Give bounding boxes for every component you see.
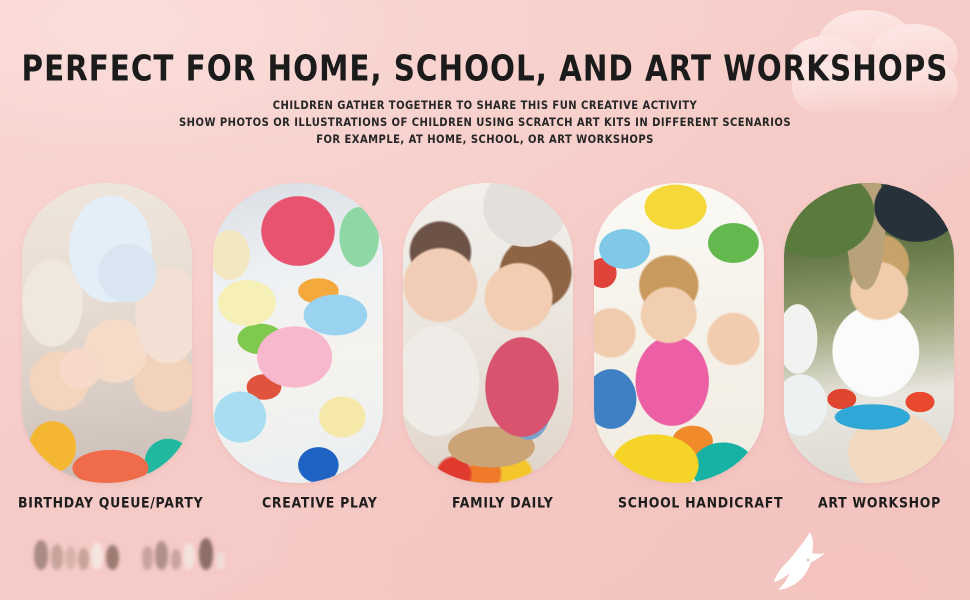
subtitle-line-3: FOR EXAMPLE, AT HOME, SCHOOL, OR ART WOR… [0, 135, 970, 146]
caption-family-daily: FAMILY DAILY [452, 496, 553, 510]
crayon-oval [106, 545, 119, 570]
crayon-oval [142, 546, 153, 570]
scenario-card-family-daily[interactable] [403, 183, 573, 483]
subtitle-block: CHILDREN GATHER TOGETHER TO SHARE THIS F… [0, 102, 970, 146]
photo-school-handicraft [594, 183, 764, 483]
caption-creative-play: CREATIVE PLAY [262, 496, 378, 510]
subtitle-line-1: CHILDREN GATHER TOGETHER TO SHARE THIS F… [0, 101, 970, 112]
banner-header: PERFECT FOR HOME, SCHOOL, AND ART WORKSH… [0, 52, 970, 153]
crayon-oval [78, 548, 89, 570]
page-title: PERFECT FOR HOME, SCHOOL, AND ART WORKSH… [10, 52, 961, 87]
scenario-card-row [22, 183, 954, 483]
scenario-card-creative-play[interactable] [213, 183, 383, 483]
caption-art-workshop: ART WORKSHOP [818, 496, 941, 510]
scenario-card-school-handicraft[interactable] [594, 183, 764, 483]
dove-icon [770, 530, 830, 596]
subtitle-line-2: SHOW PHOTOS OR ILLUSTRATIONS OF CHILDREN… [0, 118, 970, 129]
crayon-oval [216, 552, 225, 570]
crayon-oval [91, 542, 103, 570]
caption-birthday-party: BIRTHDAY QUEUE/PARTY [18, 496, 203, 510]
photo-creative-play [213, 183, 383, 483]
caption-school-handicraft: SCHOOL HANDICRAFT [618, 496, 783, 510]
photo-family-daily [403, 183, 573, 483]
crayon-ovals-decoration [34, 530, 254, 570]
photo-birthday-party [22, 183, 192, 483]
promo-banner: PERFECT FOR HOME, SCHOOL, AND ART WORKSH… [0, 0, 970, 600]
crayon-oval [171, 549, 181, 570]
scenario-card-art-workshop[interactable] [784, 183, 954, 483]
crayon-oval [155, 541, 168, 570]
photo-art-workshop [784, 183, 954, 483]
crayon-oval [183, 543, 195, 570]
crayon-oval [65, 546, 76, 570]
caption-row: BIRTHDAY QUEUE/PARTY CREATIVE PLAY FAMIL… [0, 497, 970, 519]
crayon-oval [34, 540, 48, 570]
scenario-card-birthday-party[interactable] [22, 183, 192, 483]
crayon-oval [199, 538, 213, 570]
crayon-oval [51, 544, 63, 570]
